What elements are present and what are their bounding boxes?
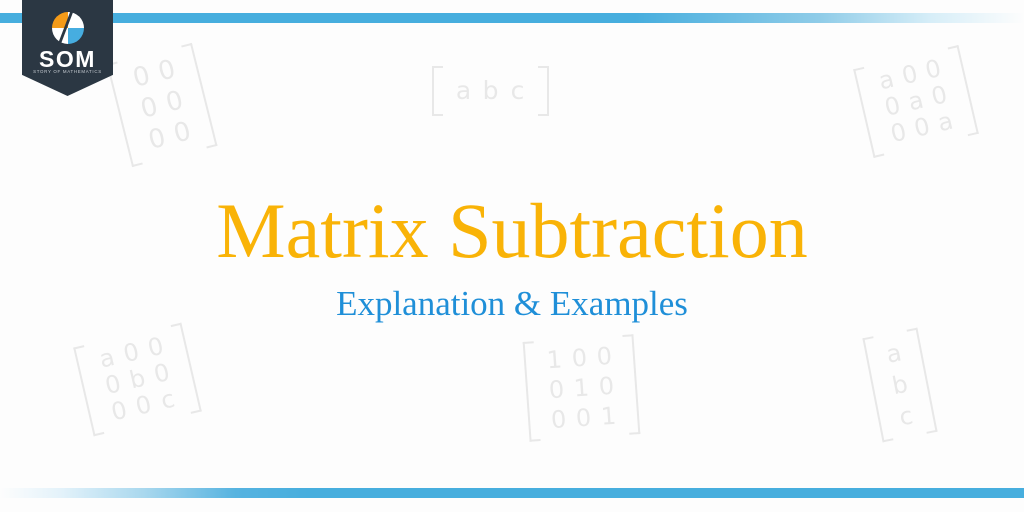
page-title: Matrix Subtraction bbox=[216, 192, 807, 270]
som-logo-icon bbox=[49, 9, 87, 47]
headline-block: Matrix Subtraction Explanation & Example… bbox=[0, 0, 1024, 512]
page-subtitle: Explanation & Examples bbox=[336, 286, 688, 321]
brand-wordmark: SOM bbox=[22, 48, 113, 71]
brand-tagline: STORY OF MATHEMATICS bbox=[22, 70, 113, 74]
slide-canvas: 000000 abc a000a000a a000b000c 100010001 bbox=[0, 0, 1024, 512]
